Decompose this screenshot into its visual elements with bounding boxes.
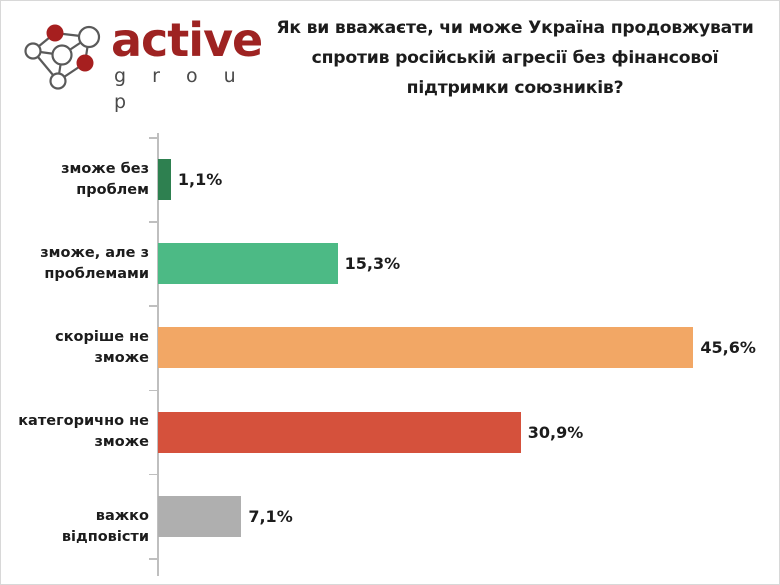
category-label-2: зможе, але з проблемами — [9, 243, 149, 285]
category-label-3: скоріше не зможе — [9, 327, 149, 369]
bar-2 — [158, 243, 338, 284]
bar-5 — [158, 496, 241, 537]
category-label-4: категорично не зможе — [9, 411, 149, 453]
brand-wordmark: active g r o u p — [111, 17, 257, 97]
page-title: Як ви вважаєте, чи може Україна продовжу… — [259, 13, 771, 103]
axis-tick-3 — [149, 305, 157, 307]
brand-name-primary: active — [111, 17, 257, 63]
axis-tick-end — [149, 558, 157, 560]
bar-4 — [158, 412, 521, 453]
axis-tick-5 — [149, 474, 157, 476]
bar-3 — [158, 327, 693, 368]
bar-chart-plot: 1,1%зможе без проблем15,3%зможе, але з п… — [1, 113, 780, 585]
category-label-1: зможе без проблем — [9, 159, 149, 201]
network-nodes-logo-icon — [17, 15, 109, 95]
bar-1 — [158, 159, 171, 200]
bar-value-label-5: 7,1% — [248, 496, 292, 537]
bar-value-label-4: 30,9% — [528, 412, 584, 453]
brand-logo: active g r o u p — [13, 9, 253, 99]
bar-value-label-1: 1,1% — [178, 159, 222, 200]
brand-name-secondary: g r o u p — [111, 63, 257, 115]
bar-value-label-2: 15,3% — [345, 243, 401, 284]
chart-header: active g r o u p Як ви вважаєте, чи може… — [1, 1, 780, 113]
category-label-5: важко відповісти — [9, 506, 149, 548]
axis-tick-2 — [149, 221, 157, 223]
bar-value-label-3: 45,6% — [700, 327, 756, 368]
axis-tick-4 — [149, 390, 157, 392]
axis-tick-1 — [149, 137, 157, 139]
chart-page: active g r o u p Як ви вважаєте, чи може… — [0, 0, 780, 585]
